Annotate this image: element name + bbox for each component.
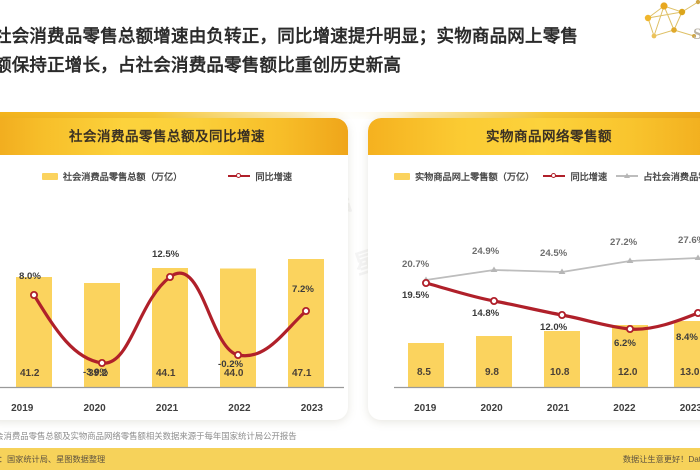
growth-label: 6.2% xyxy=(614,338,636,349)
bar xyxy=(544,331,580,387)
card-title: 社会消费品零售总额及同比增速 xyxy=(0,118,348,155)
chart-legend: 实物商品网上零售额（万亿） 同比增速 占社会消费品零售额比重 xyxy=(368,155,700,191)
legend-item-share[interactable]: 占社会消费品零售额比重 xyxy=(616,169,700,183)
legend-label: 同比增速 xyxy=(570,169,607,183)
x-tick: 2020 xyxy=(458,399,524,419)
legend-label: 同比增速 xyxy=(255,169,292,183)
growth-label: 12.0% xyxy=(540,322,567,333)
growth-label: 12.5% xyxy=(152,249,179,260)
x-tick: 2021 xyxy=(131,399,203,419)
footer-source: 数据来源：国家统计局、星图数据整理 xyxy=(0,453,105,465)
bar-value-label: 10.8 xyxy=(550,367,569,378)
share-label: 27.6% xyxy=(678,235,700,246)
footer-slogan: 数据让生意更好！Data turn xyxy=(623,453,700,465)
bar xyxy=(476,336,512,387)
card-title: 实物商品网络零售额 xyxy=(368,118,700,155)
share-label: 24.5% xyxy=(540,248,567,259)
data-point xyxy=(303,308,309,314)
share-label: 27.2% xyxy=(610,237,637,248)
footer-bar: 数据来源：国家统计局、星图数据整理 数据让生意更好！Data turn xyxy=(0,448,700,470)
bar-value-label: 44.1 xyxy=(156,368,175,379)
bar-swatch-icon xyxy=(42,173,58,180)
x-axis: 2019 2020 2021 2022 2023 xyxy=(0,399,348,419)
footnote: 注：社会消费品零售总额及实物商品网络零售额相关数据来源于每年国家统计局公开报告 xyxy=(0,430,700,442)
x-tick: 2021 xyxy=(525,399,591,419)
x-tick: 2019 xyxy=(0,399,58,419)
data-point xyxy=(99,360,105,366)
growth-label: 14.8% xyxy=(472,308,499,319)
x-tick: 2022 xyxy=(591,399,657,419)
bar-value-label: 41.2 xyxy=(20,368,39,379)
x-axis: 2019 2020 2021 2022 2023 xyxy=(392,399,700,419)
red-line-swatch-icon xyxy=(228,172,250,180)
share-label: 24.9% xyxy=(472,246,499,257)
x-tick: 2023 xyxy=(276,399,348,419)
growth-label: 8.4% xyxy=(676,332,698,343)
bar-value-label: 44.0 xyxy=(224,368,243,379)
data-point xyxy=(491,298,497,304)
data-point xyxy=(235,352,241,358)
growth-label: 19.5% xyxy=(402,290,429,301)
x-tick: 2023 xyxy=(658,399,700,419)
data-point xyxy=(423,280,429,286)
grey-line-swatch-icon xyxy=(616,172,638,180)
chart-legend: 社会消费品零售总额（万亿） 同比增速 xyxy=(0,155,348,191)
bar-value-label: 39.2 xyxy=(88,368,107,379)
bar xyxy=(408,343,444,387)
page-title: 社会消费品零售总额增速由负转正，同比增速提升明显；实物商品网上零售 额保持正增长… xyxy=(0,22,700,80)
card-online-retail-sales: 实物商品网络零售额 实物商品网上零售额（万亿） 同比增速 占社会消费品零售额比重 xyxy=(368,118,700,420)
data-point xyxy=(695,310,700,316)
bar-value-label: 47.1 xyxy=(292,368,311,379)
share-label: 20.7% xyxy=(402,259,429,270)
legend-item-growth[interactable]: 同比增速 xyxy=(543,169,607,183)
legend-item-growth[interactable]: 同比增速 xyxy=(228,169,292,183)
chart-plot-area: 8.0% -3.9% 12.5% -0.2% 7.2% 41.2 39.2 44… xyxy=(0,191,348,420)
growth-label: 8.0% xyxy=(19,271,41,282)
x-tick: 2022 xyxy=(203,399,275,419)
red-line-swatch-icon xyxy=(543,172,565,180)
bar-value-label: 12.0 xyxy=(618,367,637,378)
bar-swatch-icon xyxy=(394,173,410,180)
bar-value-label: 8.5 xyxy=(417,367,431,378)
bar-value-label: 9.8 xyxy=(485,367,499,378)
data-point xyxy=(167,274,173,280)
legend-label: 占社会消费品零售额比重 xyxy=(643,169,700,183)
chart-plot-area: 20.7% 24.9% 24.5% 27.2% 27.6% 19.5% 14.8… xyxy=(368,191,700,420)
legend-item-bar[interactable]: 实物商品网上零售额（万亿） xyxy=(394,169,534,183)
bar-value-label: 13.0 xyxy=(680,367,699,378)
data-point xyxy=(31,292,37,298)
card-total-retail-sales: 社会消费品零售总额及同比增速 社会消费品零售总额（万亿） 同比增速 xyxy=(0,118,348,420)
x-tick: 2019 xyxy=(392,399,458,419)
data-point xyxy=(627,326,633,332)
growth-label: 7.2% xyxy=(292,284,314,295)
legend-item-bar[interactable]: 社会消费品零售总额（万亿） xyxy=(42,169,182,183)
x-tick: 2020 xyxy=(58,399,130,419)
legend-label: 实物商品网上零售额（万亿） xyxy=(415,169,534,183)
data-point xyxy=(559,312,565,318)
legend-label: 社会消费品零售总额（万亿） xyxy=(63,169,182,183)
